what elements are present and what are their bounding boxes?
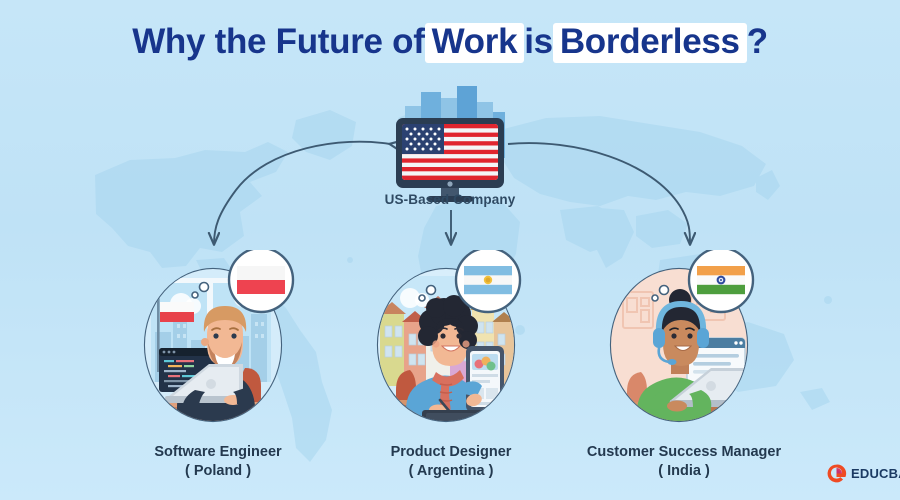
poland-flag xyxy=(237,266,285,294)
educba-logo-text: EDUCBA xyxy=(851,466,900,481)
us-flag xyxy=(402,124,498,180)
educba-e-icon xyxy=(826,463,847,484)
infographic-canvas: Why the Future of Work is Borderless ? xyxy=(0,0,900,500)
caption-country: ( India ) xyxy=(544,462,824,481)
person-card-product-designer xyxy=(366,250,536,432)
india-flag xyxy=(697,266,745,294)
company-label: US-Based Company xyxy=(330,192,570,207)
educba-logo: EDUCBA xyxy=(826,463,900,484)
caption-role: Customer Success Manager xyxy=(544,443,824,462)
us-based-company-icon xyxy=(381,84,519,209)
poland-flag-pole xyxy=(160,302,194,322)
person-card-software-engineer xyxy=(133,250,303,432)
argentina-flag xyxy=(464,266,512,294)
caption-customer-success-manager: Customer Success Manager ( India ) xyxy=(544,443,824,481)
person-card-customer-success-manager xyxy=(599,250,769,432)
